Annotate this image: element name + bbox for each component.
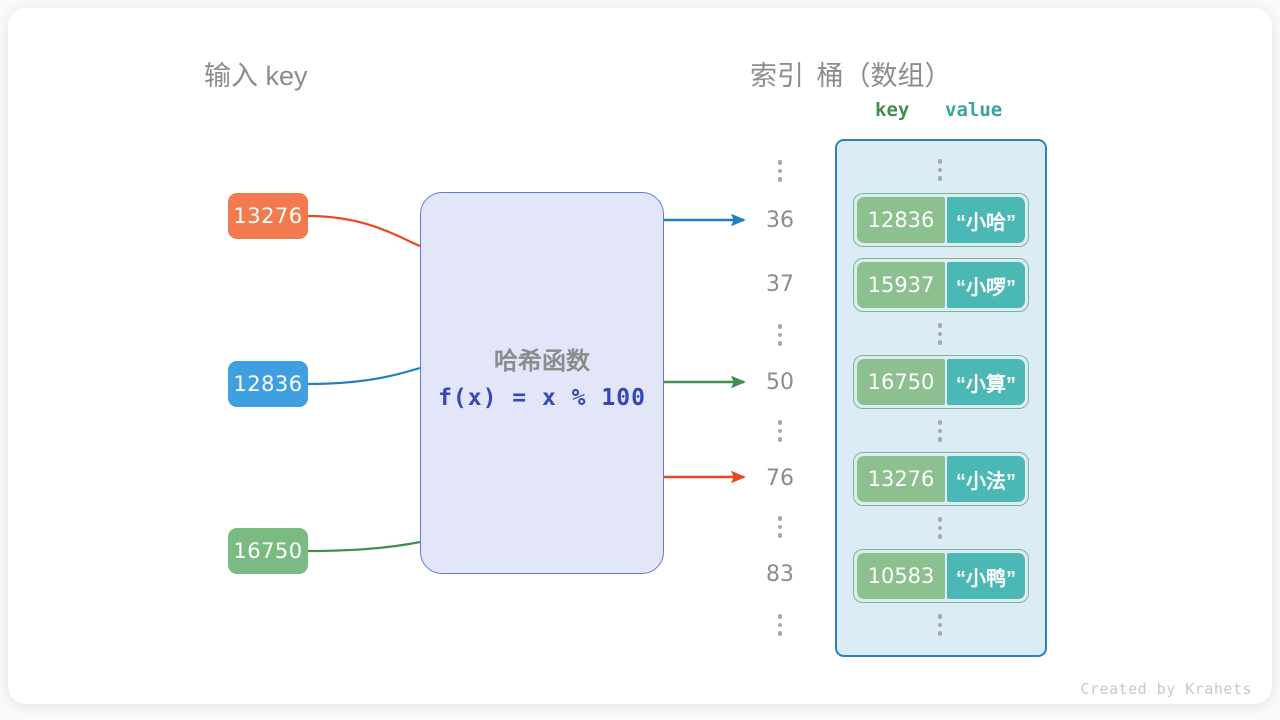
bucket-entry: 12836 “小哈”	[853, 193, 1029, 247]
bucket-ellipsis	[935, 159, 945, 181]
index-label: 37	[760, 272, 800, 297]
index-ellipsis	[775, 420, 785, 442]
bucket-ellipsis	[935, 420, 945, 442]
input-key-chip: 13276	[228, 193, 308, 239]
hash-function-title: 哈希函数	[421, 341, 663, 376]
bucket-entry-key: 15937	[857, 262, 945, 308]
column-heading-input: 输入 key	[204, 54, 308, 93]
bucket-entry-key: 16750	[857, 359, 945, 405]
bucket-entry: 15937 “小啰”	[853, 258, 1029, 312]
hash-function-box: 哈希函数 f(x) = x % 100	[420, 192, 664, 574]
bucket-entry: 13276 “小法”	[853, 452, 1029, 506]
index-ellipsis	[775, 516, 785, 538]
bucket-entry-value: “小算”	[947, 359, 1025, 405]
bucket-entry: 10583 “小鸭”	[853, 549, 1029, 603]
input-key-chip: 16750	[228, 528, 308, 574]
index-label: 36	[760, 208, 800, 233]
bucket-entry-value: “小法”	[947, 456, 1025, 502]
index-ellipsis	[775, 324, 785, 346]
bucket-entry-value: “小鸭”	[947, 553, 1025, 599]
bucket-entry-value: “小哈”	[947, 197, 1025, 243]
index-ellipsis	[775, 614, 785, 636]
input-key-chip: 12836	[228, 361, 308, 407]
bucket-ellipsis	[935, 614, 945, 636]
index-label: 76	[760, 466, 800, 491]
bucket-entry-key: 13276	[857, 456, 945, 502]
bucket-entry-key: 12836	[857, 197, 945, 243]
watermark: Created by Krahets	[1080, 680, 1252, 698]
diagram-canvas: 输入 key 索引 桶（数组） key value 13276 12836 16…	[0, 0, 1280, 720]
index-label: 83	[760, 562, 800, 587]
index-ellipsis	[775, 160, 785, 182]
subheading-key: key	[875, 99, 909, 121]
bucket-ellipsis	[935, 517, 945, 539]
bucket-entry-value: “小啰”	[947, 262, 1025, 308]
bucket-ellipsis	[935, 323, 945, 345]
bucket-entry: 16750 “小算”	[853, 355, 1029, 409]
bucket-entry-key: 10583	[857, 553, 945, 599]
column-heading-index: 索引	[750, 54, 804, 93]
column-heading-bucket: 桶（数组）	[817, 54, 952, 93]
subheading-value: value	[945, 99, 1002, 121]
hash-function-formula: f(x) = x % 100	[421, 385, 663, 411]
index-label: 50	[760, 370, 800, 395]
